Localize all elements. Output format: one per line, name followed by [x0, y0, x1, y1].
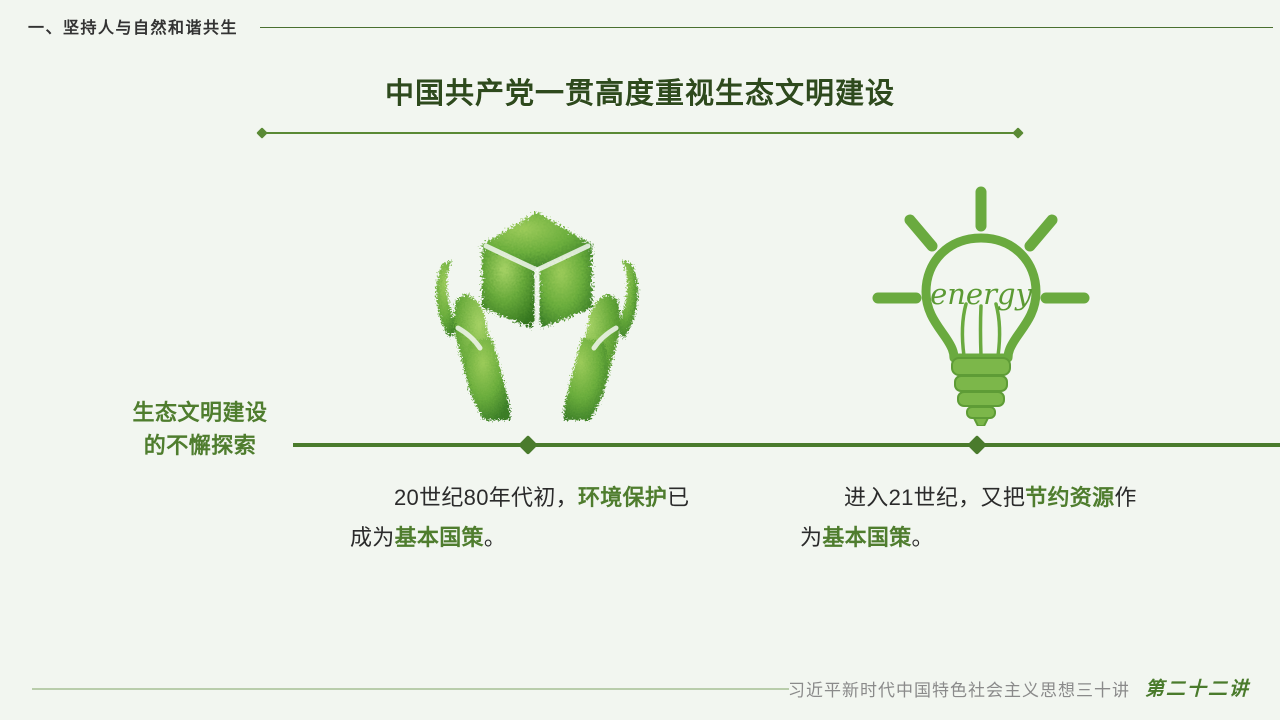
footer-series-title: 习近平新时代中国特色社会主义思想三十讲: [788, 676, 1130, 701]
footer-divider: [32, 688, 789, 690]
caption-1-part-1: 环境保护: [578, 485, 667, 510]
timeline-axis: [293, 438, 1280, 452]
stage-label-line-2: 的不懈探索: [112, 429, 288, 462]
page-title: 中国共产党一贯高度重视生态文明建设: [0, 74, 1280, 114]
slide-canvas: 一、坚持人与自然和谐共生 中国共产党一贯高度重视生态文明建设 生态文明建设 的不…: [0, 0, 1280, 720]
bulb-energy-label: energy: [930, 277, 1032, 311]
timeline-node-2-diamond-icon[interactable]: [967, 435, 987, 455]
caption-2-part-0: 进入21世纪，又把: [844, 485, 1025, 510]
caption-2-part-4: 。: [912, 525, 934, 550]
title-underline: [258, 128, 1022, 138]
timeline-node-1-diamond-icon[interactable]: [518, 435, 538, 455]
stage-label: 生态文明建设 的不懈探索: [112, 396, 288, 462]
title-underline-right-diamond-icon: [1012, 127, 1023, 138]
section-header-divider: [260, 27, 1273, 28]
stage-label-line-1: 生态文明建设: [112, 396, 288, 429]
green-energy-lightbulb-icon: energy: [868, 186, 1094, 426]
green-hands-protecting-earth-icon: [398, 196, 678, 428]
title-underline-bar: [264, 132, 1016, 134]
caption-2-part-3: 基本国策: [822, 525, 911, 550]
title-block: 中国共产党一贯高度重视生态文明建设: [0, 74, 1280, 114]
timeline-bar: [293, 443, 1280, 447]
caption-item-2: 进入21世纪，又把节约资源作为基本国策。: [800, 478, 1146, 558]
caption-1-part-3: 基本国策: [395, 525, 484, 550]
caption-2-part-1: 节约资源: [1025, 485, 1114, 510]
section-header-label: 一、坚持人与自然和谐共生: [28, 14, 238, 38]
footer-lecture-badge: 第二十二讲: [1145, 674, 1250, 701]
caption-item-1: 20世纪80年代初，环境保护已成为基本国策。: [350, 478, 696, 558]
caption-1-part-0: 20世纪80年代初，: [394, 485, 578, 510]
caption-1-part-4: 。: [484, 525, 506, 550]
section-header: 一、坚持人与自然和谐共生: [28, 14, 1273, 38]
